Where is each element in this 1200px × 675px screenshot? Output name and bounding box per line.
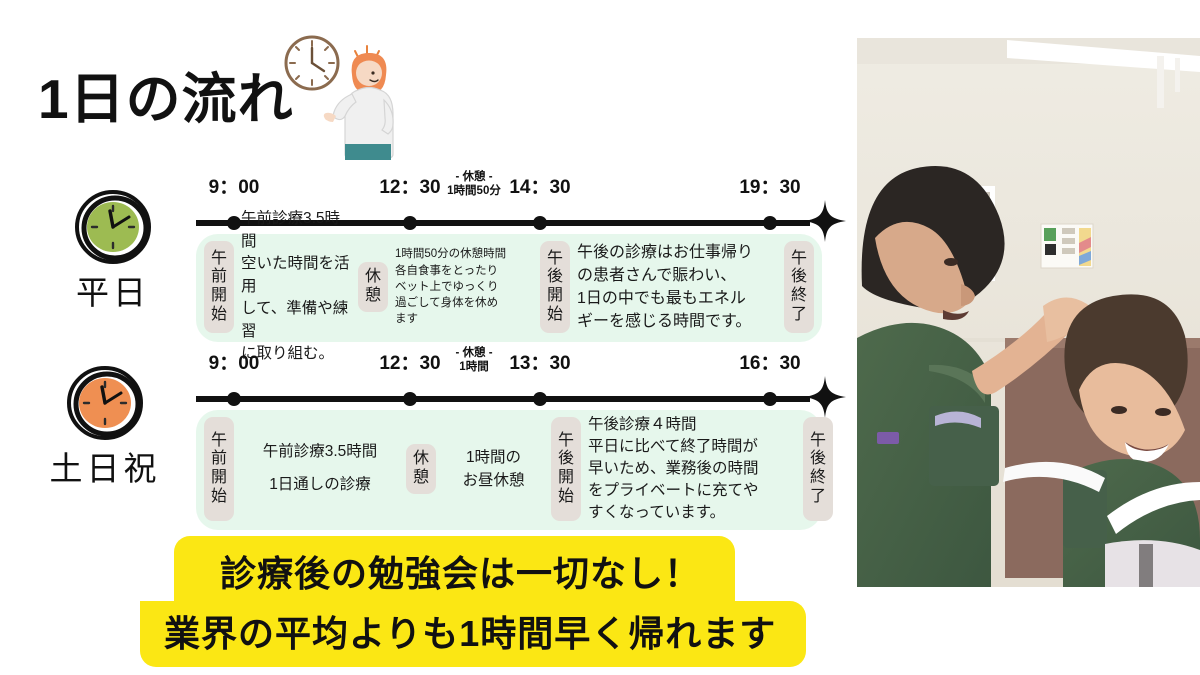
infographic-root: 1日の流れ (0, 0, 1200, 675)
segment-text-morning-weekend: 午前診療3.5時間 1日通しの診療 (234, 420, 406, 518)
stage-chip-afternoon-end: 午 後 終 了 (784, 241, 814, 333)
tick-time: 12：30 (379, 172, 440, 199)
chip-char: 憩 (365, 287, 381, 306)
segment-line: 1日通しの診療 (241, 469, 399, 502)
clock-and-woman-illustration (272, 30, 407, 160)
chip-char: 休 (413, 450, 429, 469)
stage-chip-afternoon-end: 午 後 終 了 (803, 417, 833, 521)
break-label-top: - 休憩 - (447, 170, 501, 184)
day-label-weekday: 平日 (28, 275, 198, 311)
day-group-weekday: 平日 (28, 186, 198, 311)
tick-time: 14：30 (509, 172, 570, 199)
chip-char: 午 (211, 250, 227, 269)
break-label-top: - 休憩 - (455, 346, 492, 360)
chip-char: 開 (211, 469, 227, 488)
stage-chip-break: 休 憩 (358, 262, 388, 312)
segment-line: 各自食事をとったり (395, 263, 533, 279)
tick-time: 16：30 (739, 348, 800, 375)
banner-line-1: 診療後の勉強会は一切なし！ (174, 536, 735, 601)
chip-char: 終 (791, 287, 807, 306)
chip-char: 開 (211, 287, 227, 306)
axis-dot (403, 216, 417, 230)
tick-time: 9：00 (209, 348, 260, 375)
axis-line (196, 396, 810, 402)
chip-char: 始 (211, 488, 227, 507)
segment-line: 1日の中でも最もエネル (577, 287, 777, 310)
tick-time: 12：30 (379, 348, 440, 375)
highlight-banner: 診療後の勉強会は一切なし！ 業界の平均よりも1時間早く帰れます (140, 536, 806, 667)
clock-orange-icon (64, 362, 146, 444)
chip-char: 開 (547, 287, 563, 306)
timeline-row-weekday: 9：00 12：30 14：30 19：30 - 休憩 - 1時間50分 午 前 (196, 172, 836, 342)
segment-line: 平日に比べて終了時間が (588, 436, 796, 458)
chip-char: 前 (211, 450, 227, 469)
chip-char: 午 (211, 432, 227, 451)
axis-dot (403, 392, 417, 406)
segment-line: 午後診療４時間 (588, 414, 796, 436)
chip-char: 始 (558, 488, 574, 507)
banner-line-2: 業界の平均よりも1時間早く帰れます (140, 601, 806, 667)
clock-green-icon (72, 186, 154, 268)
chip-char: 了 (791, 306, 807, 325)
tick-labels-weekday: 9：00 12：30 14：30 19：30 - 休憩 - 1時間50分 (196, 172, 836, 212)
segment-text-afternoon-weekend: 午後診療４時間 平日に比べて終了時間が 早いため、業務後の時間 をプライベートに… (581, 420, 803, 518)
segment-line: 1時間50分の休憩時間 (395, 246, 533, 262)
staff-photo-illustration (857, 38, 1200, 587)
page-title: 1日の流れ (38, 72, 294, 127)
chip-char: 後 (558, 450, 574, 469)
stage-chip-afternoon-start: 午 後 開 始 (540, 241, 570, 333)
tick-time: 13：30 (509, 348, 570, 375)
break-label-bottom: 1時間50分 (447, 184, 501, 198)
segment-text-morning-weekday: 午前診療3.5時間 空いた時間を活用 して、準備や練習 に取り組む。 (234, 244, 358, 330)
stage-chip-afternoon-start: 午 後 開 始 (551, 417, 581, 521)
axis-dot (227, 216, 241, 230)
chip-char: 憩 (413, 469, 429, 488)
stage-chip-morning-start: 午 前 開 始 (204, 417, 234, 521)
break-label-weekend: - 休憩 - 1時間 (455, 346, 492, 375)
tick-labels-weekend: 9：00 12：30 13：30 16：30 - 休憩 - 1時間 (196, 348, 836, 388)
segment-line: の患者さんで賑わい、 (577, 264, 777, 287)
chip-char: 了 (810, 488, 826, 507)
axis-dot (763, 392, 777, 406)
segment-line: すくなっています。 (588, 502, 796, 524)
day-label-weekend: 土日祝 (20, 451, 190, 487)
axis-dot (763, 216, 777, 230)
chip-char: 後 (810, 450, 826, 469)
chip-char: 午 (547, 250, 563, 269)
chip-char: 後 (547, 268, 563, 287)
chip-char: 終 (810, 469, 826, 488)
segment-line: ギーを感じる時間です。 (577, 310, 777, 333)
chip-char: 始 (211, 306, 227, 325)
segment-text-afternoon-weekday: 午後の診療はお仕事帰り の患者さんで賑わい、 1日の中でも最もエネル ギーを感じ… (570, 244, 784, 330)
timeline-row-weekend: 9：00 12：30 13：30 16：30 - 休憩 - 1時間 午 前 開 (196, 348, 836, 530)
tick-time: 9：00 (209, 172, 260, 199)
segment-line: 過ごして身体を休め (395, 295, 533, 311)
tick-time: 19：30 (739, 172, 800, 199)
day-group-weekend: 土日祝 (20, 362, 190, 487)
break-label-bottom: 1時間 (455, 360, 492, 374)
axis-dot (227, 392, 241, 406)
segment-line: 空いた時間を活用 (241, 253, 351, 298)
segment-line: ベット上でゆっくり (395, 279, 533, 295)
stage-chip-morning-start: 午 前 開 始 (204, 241, 234, 333)
segment-line: 午前診療3.5時間 (241, 436, 399, 469)
axis-dot (533, 216, 547, 230)
chip-char: 休 (365, 268, 381, 287)
content-panel-weekend: 午 前 開 始 午前診療3.5時間 1日通しの診療 休 憩 1時間の お昼休憩 … (196, 410, 822, 530)
stage-chip-break: 休 憩 (406, 444, 436, 494)
segment-text-break-weekend: 1時間の お昼休憩 (436, 420, 551, 518)
chip-char: 午 (810, 432, 826, 451)
segment-line: 午後の診療はお仕事帰り (577, 241, 777, 264)
chip-char: 午 (791, 250, 807, 269)
segment-line: ます (395, 311, 533, 327)
chip-char: 後 (791, 268, 807, 287)
axis-weekend (196, 388, 836, 410)
content-panel-weekday: 午 前 開 始 午前診療3.5時間 空いた時間を活用 して、準備や練習 に取り組… (196, 234, 822, 342)
segment-text-break-weekday: 1時間50分の休憩時間 各自食事をとったり ベット上でゆっくり 過ごして身体を休… (388, 244, 540, 330)
segment-line: 早いため、業務後の時間 (588, 458, 796, 480)
chip-char: 始 (547, 306, 563, 325)
staff-photo (857, 38, 1200, 587)
axis-dot (533, 392, 547, 406)
chip-char: 午 (558, 432, 574, 451)
segment-line: 1時間の (443, 446, 544, 469)
segment-line: お昼休憩 (443, 469, 544, 492)
segment-line: して、準備や練習 (241, 298, 351, 343)
segment-line: 午前診療3.5時間 (241, 208, 351, 253)
break-label-weekday: - 休憩 - 1時間50分 (447, 170, 501, 199)
chip-char: 開 (558, 469, 574, 488)
segment-line: をプライベートに充てや (588, 480, 796, 502)
chip-char: 前 (211, 268, 227, 287)
